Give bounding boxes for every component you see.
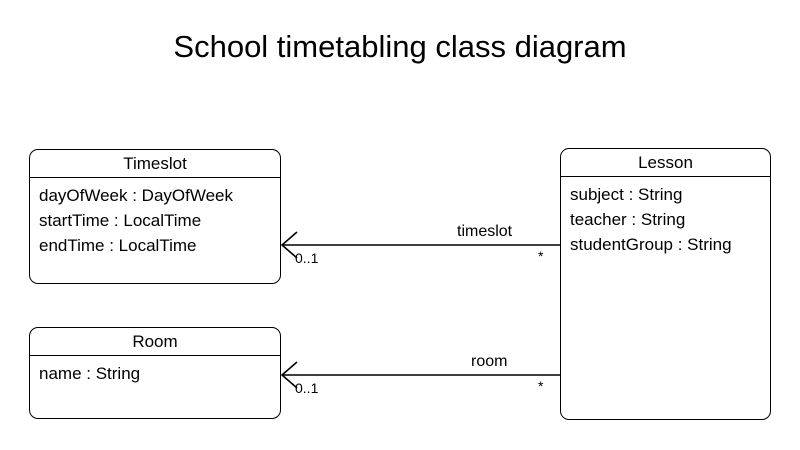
diagram-canvas: School timetabling class diagram Timeslo… xyxy=(0,0,800,450)
association-label-timeslot: timeslot xyxy=(457,223,512,241)
uml-attribute: subject : String xyxy=(570,182,770,207)
uml-class-name-room: Room xyxy=(30,328,280,356)
association-timeslot xyxy=(282,232,560,258)
uml-class-room[interactable]: Room name : String xyxy=(29,327,281,419)
uml-class-timeslot[interactable]: Timeslot dayOfWeek : DayOfWeek startTime… xyxy=(29,149,281,284)
uml-class-lesson[interactable]: Lesson subject : String teacher : String… xyxy=(560,148,771,420)
uml-class-name-timeslot: Timeslot xyxy=(30,150,280,178)
page-title: School timetabling class diagram xyxy=(0,28,800,66)
uml-attribute: teacher : String xyxy=(570,207,770,232)
uml-attribute-list-timeslot: dayOfWeek : DayOfWeek startTime : LocalT… xyxy=(30,178,280,258)
association-multiplicity-timeslot-target: 0..1 xyxy=(295,250,318,266)
association-label-room: room xyxy=(471,353,507,371)
uml-class-name-lesson: Lesson xyxy=(561,149,770,177)
association-multiplicity-room-target: 0..1 xyxy=(295,380,318,396)
uml-attribute: studentGroup : String xyxy=(570,232,770,257)
uml-attribute-list-lesson: subject : String teacher : String studen… xyxy=(561,177,770,257)
uml-attribute: name : String xyxy=(39,361,280,386)
uml-attribute: startTime : LocalTime xyxy=(39,208,280,233)
association-multiplicity-room-source: * xyxy=(538,378,543,394)
uml-attribute: endTime : LocalTime xyxy=(39,233,280,258)
association-room xyxy=(282,362,560,388)
uml-attribute: dayOfWeek : DayOfWeek xyxy=(39,183,280,208)
association-multiplicity-timeslot-source: * xyxy=(538,248,543,264)
uml-attribute-list-room: name : String xyxy=(30,356,280,386)
